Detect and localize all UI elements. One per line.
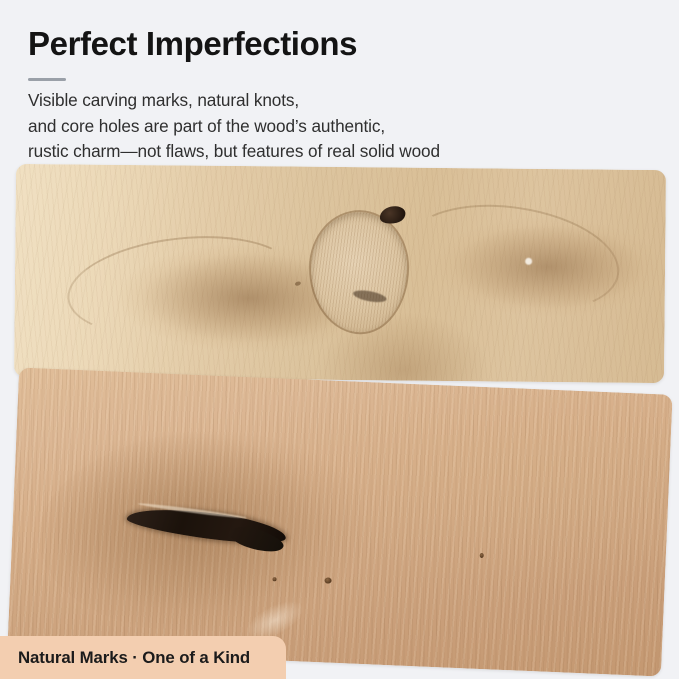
status-badge: Natural Marks · One of a Kind: [0, 636, 286, 679]
photo-gallery: [0, 0, 679, 679]
product-feature-card: Perfect Imperfections Visible carving ma…: [0, 0, 679, 679]
status-badge-label: Natural Marks · One of a Kind: [18, 648, 250, 668]
wood-crack-mark-closeup-photo: [7, 367, 672, 676]
wood-knot-core-hole-closeup-photo: [14, 164, 666, 383]
wood-pinhole: [272, 577, 276, 581]
